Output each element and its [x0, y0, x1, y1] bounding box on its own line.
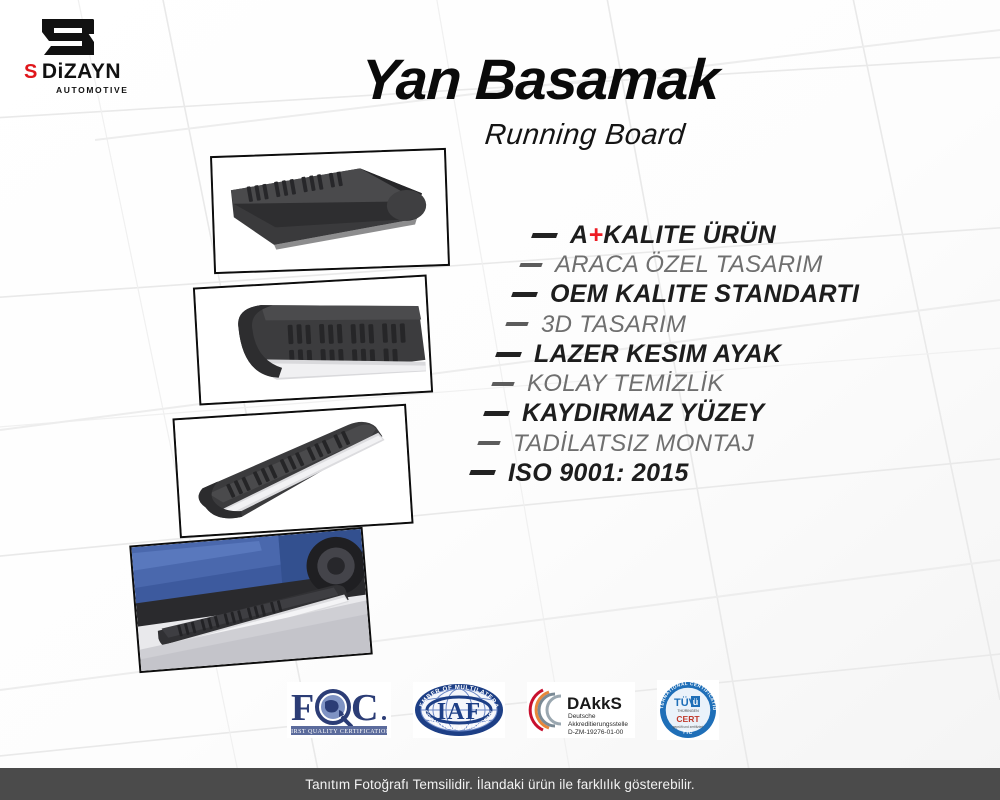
product-photo-3	[172, 404, 413, 538]
dash-bullet-icon	[531, 233, 558, 238]
feature-item: KAYDIRMAZ YÜZEY	[484, 400, 930, 426]
dash-bullet-icon	[483, 411, 510, 416]
logo-s: S	[24, 62, 37, 82]
svg-text:Deutsche: Deutsche	[568, 713, 596, 720]
feature-label: ARACA ÖZEL TASARIM	[555, 252, 823, 277]
svg-text:THÜRINGEN: THÜRINGEN	[677, 709, 699, 713]
dash-bullet-icon	[469, 470, 496, 475]
svg-text:Akkreditierungsstelle: Akkreditierungsstelle	[568, 721, 628, 728]
svg-text:C: C	[351, 687, 378, 729]
feature-label: TADİLATSIZ MONTAJ	[513, 431, 754, 456]
plus-symbol: +	[588, 221, 603, 249]
fqc-certification-icon: F C FIRST QUALITY CERTIFICATION	[287, 682, 391, 743]
dash-bullet-icon	[511, 292, 538, 297]
svg-text:TIC: TIC	[682, 729, 694, 736]
feature-item: LAZER KESIM AYAK	[496, 341, 930, 367]
product-photo-1	[210, 148, 450, 274]
tuv-certification-icon: INTERNATIONAL CERTIFICATION TIC TÜV ü TH…	[657, 680, 719, 745]
feature-label: A+KALITE ÜRÜN	[570, 222, 776, 248]
dash-bullet-icon	[495, 352, 522, 357]
iaf-certification-icon: IAF MEMBER OF MULTILATERAL RECOGNITION A…	[413, 682, 505, 743]
product-photo-2	[193, 275, 433, 406]
product-photo-4	[129, 527, 373, 673]
dash-bullet-icon	[491, 382, 514, 386]
footer-bar: Tanıtım Fotoğrafı Temsilidir. İlandaki ü…	[0, 768, 1000, 800]
svg-text:IAF: IAF	[437, 699, 481, 725]
svg-text:FIRST QUALITY CERTIFICATION: FIRST QUALITY CERTIFICATION	[287, 729, 391, 735]
feature-item: ISO 9001: 2015	[470, 460, 930, 486]
page-title: Yan Basamak	[269, 52, 812, 109]
feature-item: KOLAY TEMİZLİK	[492, 371, 930, 396]
feature-item: A+KALITE ÜRÜN	[532, 222, 930, 248]
feature-label: ISO 9001: 2015	[508, 460, 689, 486]
svg-text:CERT: CERT	[676, 714, 700, 724]
feature-label: KAYDIRMAZ YÜZEY	[522, 400, 764, 426]
feature-label: 3D TASARIM	[541, 312, 686, 337]
feature-item: TADİLATSIZ MONTAJ	[478, 431, 930, 456]
disclaimer-text: Tanıtım Fotoğrafı Temsilidir. İlandaki ü…	[305, 777, 695, 792]
feature-item: 3D TASARIM	[506, 312, 930, 337]
logo-tagline: AUTOMOTIVE	[56, 85, 162, 95]
logo-name: DiZAYN	[42, 61, 121, 82]
svg-text:ü: ü	[693, 697, 699, 707]
brand-logo: S DiZAYN AUTOMOTIVE	[22, 14, 162, 95]
feature-label: LAZER KESIM AYAK	[534, 341, 781, 367]
feature-item: ARACA ÖZEL TASARIM	[520, 252, 930, 277]
dash-bullet-icon	[505, 322, 528, 326]
dakks-certification-icon: DAkkS Deutsche Akkreditierungsstelle D-Z…	[527, 682, 635, 743]
title-block: Yan Basamak Running Board	[270, 52, 810, 152]
certification-badges: F C FIRST QUALITY CERTIFICATION	[287, 680, 719, 745]
feature-list: A+KALITE ÜRÜN ARACA ÖZEL TASARIM OEM KAL…	[470, 222, 930, 490]
svg-text:DAkkS: DAkkS	[567, 694, 622, 713]
svg-text:D-ZM-19276-01-00: D-ZM-19276-01-00	[568, 729, 624, 736]
dash-bullet-icon	[477, 441, 500, 445]
feature-label: KOLAY TEMİZLİK	[527, 371, 724, 396]
page-subtitle: Running Board	[358, 119, 811, 152]
feature-label: OEM KALITE STANDARTI	[550, 281, 859, 307]
svg-text:F: F	[291, 687, 314, 729]
s-monogram-icon	[32, 14, 106, 60]
dash-bullet-icon	[519, 263, 542, 267]
feature-item: OEM KALITE STANDARTI	[512, 281, 930, 307]
svg-text:geprüft und zertifiziert: geprüft und zertifiziert	[673, 725, 704, 729]
